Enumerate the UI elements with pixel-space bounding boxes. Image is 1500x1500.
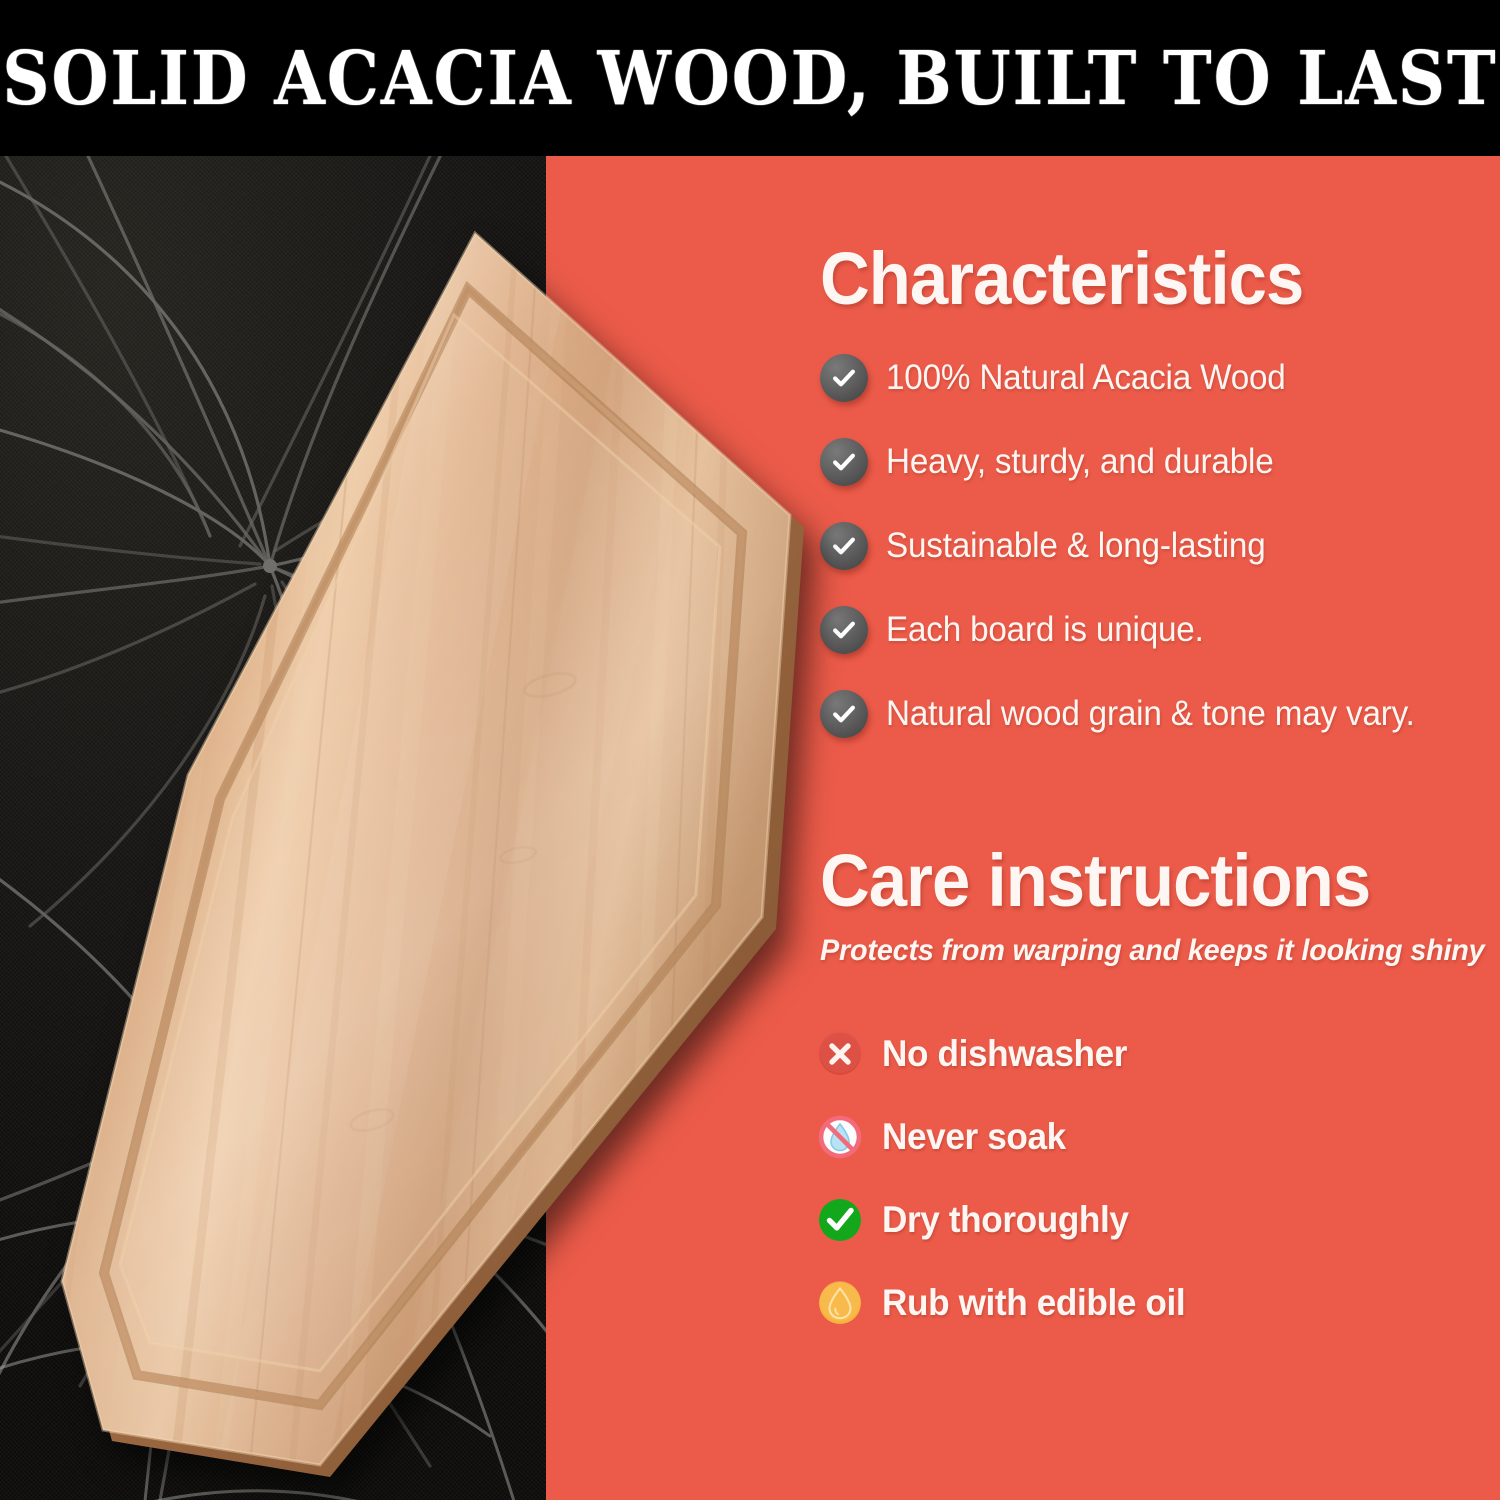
oil-droplet-icon [814, 1277, 866, 1329]
care-item: No dishwasher [814, 1012, 1494, 1095]
characteristic-item: Heavy, sturdy, and durable [820, 420, 1480, 504]
characteristic-item: 100% Natural Acacia Wood [820, 336, 1480, 420]
care-item: Dry thoroughly [814, 1178, 1494, 1261]
care-label: Dry thoroughly [882, 1200, 1129, 1240]
characteristic-item: Sustainable & long-lasting [820, 504, 1480, 588]
characteristics-list: 100% Natural Acacia Wood Heavy, sturdy, … [820, 336, 1480, 756]
header-band: SOLID ACACIA WOOD, BUILT TO LAST [0, 0, 1500, 156]
care-label: Rub with edible oil [882, 1283, 1185, 1323]
check-circle-green-icon [814, 1194, 866, 1246]
check-circle-grey-icon [820, 690, 868, 738]
check-circle-grey-icon [820, 606, 868, 654]
care-item: Never soak [814, 1095, 1494, 1178]
characteristic-label: Natural wood grain & tone may vary. [886, 695, 1415, 733]
care-instructions-subtitle: Protects from warping and keeps it looki… [820, 934, 1485, 968]
characteristic-item: Each board is unique. [820, 588, 1480, 672]
care-label: No dishwasher [882, 1034, 1127, 1074]
no-dishwasher-x-icon [814, 1028, 866, 1080]
characteristic-label: Each board is unique. [886, 611, 1204, 649]
characteristic-item: Natural wood grain & tone may vary. [820, 672, 1480, 756]
care-item: Rub with edible oil [814, 1261, 1494, 1344]
check-circle-grey-icon [820, 522, 868, 570]
check-circle-grey-icon [820, 354, 868, 402]
care-instructions-heading: Care instructions [820, 844, 1370, 918]
care-label: Never soak [882, 1117, 1066, 1157]
care-instructions-list: No dishwasher Never soak [814, 1012, 1494, 1344]
no-soak-droplet-icon [814, 1111, 866, 1163]
infographic-canvas: SOLID ACACIA WOOD, BUILT TO LAST [0, 0, 1500, 1500]
characteristics-heading: Characteristics [820, 242, 1303, 316]
page-title: SOLID ACACIA WOOD, BUILT TO LAST [8, 0, 1493, 165]
acacia-coffin-cutting-board-image [20, 215, 820, 1500]
characteristic-label: 100% Natural Acacia Wood [886, 359, 1286, 397]
characteristic-label: Sustainable & long-lasting [886, 527, 1266, 565]
cutting-board-illustration [20, 215, 820, 1500]
characteristic-label: Heavy, sturdy, and durable [886, 443, 1274, 481]
check-circle-grey-icon [820, 438, 868, 486]
